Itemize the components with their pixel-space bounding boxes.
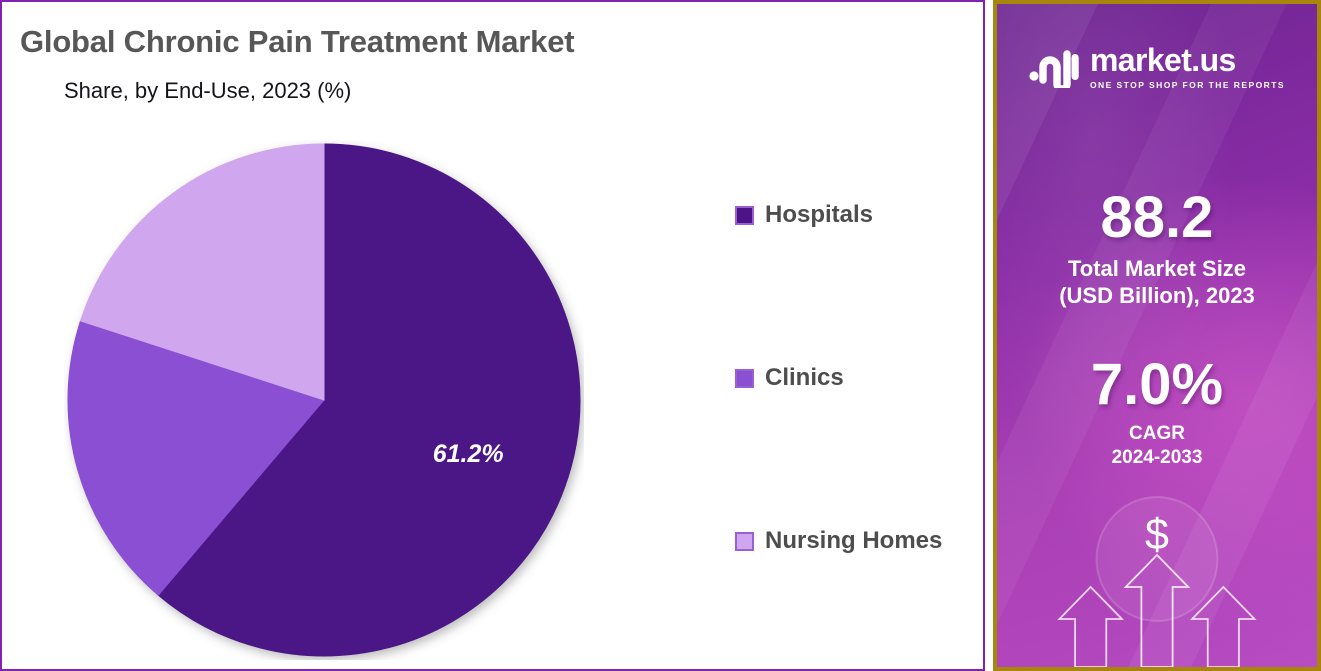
market-size-caption-line2: (USD Billion), 2023: [997, 283, 1317, 310]
pie-chart-svg: 61.2%: [64, 140, 584, 660]
arrow-up-icon-center: [1126, 555, 1188, 667]
cagr-caption-line1: CAGR: [997, 422, 1317, 446]
legend-label-hospitals: Hospitals: [765, 201, 873, 229]
arrow-up-icon-left: [1059, 587, 1121, 667]
pie-slices: [68, 144, 580, 656]
legend-swatch-hospitals: [735, 206, 754, 225]
market-size-stat: 88.2 Total Market Size (USD Billion), 20…: [997, 189, 1317, 310]
chart-panel: Global Chronic Pain Treatment Market Sha…: [0, 0, 985, 671]
legend-label-nursing-homes: Nursing Homes: [765, 527, 942, 555]
market-us-logo-icon: [1029, 46, 1079, 88]
legend-label-clinics: Clinics: [765, 364, 844, 392]
market-size-caption-line1: Total Market Size: [997, 256, 1317, 283]
brand-name: market.us: [1090, 44, 1285, 76]
brand-logo: market.us ONE STOP SHOP FOR THE REPORTS: [997, 44, 1317, 90]
growth-decoration: $: [997, 487, 1317, 667]
stat-panel: market.us ONE STOP SHOP FOR THE REPORTS …: [993, 0, 1321, 671]
legend-swatch-nursing-homes: [735, 532, 754, 551]
legend-item-clinics[interactable]: Clinics: [735, 361, 975, 395]
cagr-stat: 7.0% CAGR 2024-2033: [997, 356, 1317, 470]
market-size-value: 88.2: [997, 189, 1317, 247]
brand-tagline: ONE STOP SHOP FOR THE REPORTS: [1090, 80, 1285, 90]
legend-item-nursing-homes[interactable]: Nursing Homes: [735, 524, 975, 558]
page-title: Global Chronic Pain Treatment Market: [20, 24, 574, 60]
chart-subtitle: Share, by End-Use, 2023 (%): [64, 78, 351, 104]
legend-swatch-clinics: [735, 369, 754, 388]
brand-text: market.us ONE STOP SHOP FOR THE REPORTS: [1090, 44, 1285, 90]
cagr-value: 7.0%: [997, 356, 1317, 414]
cagr-caption-line2: 2024-2033: [997, 446, 1317, 470]
arrow-up-icon-right: [1192, 587, 1254, 667]
dollar-icon: $: [1145, 511, 1169, 560]
chart-legend: Hospitals Clinics Nursing Homes: [735, 198, 975, 558]
pie-slice-label-hospitals: 61.2%: [433, 440, 504, 468]
panel-texture: [997, 4, 1317, 667]
infographic-root: Global Chronic Pain Treatment Market Sha…: [0, 0, 1321, 671]
legend-item-hospitals[interactable]: Hospitals: [735, 198, 975, 232]
pie-chart: 61.2%: [64, 140, 584, 660]
